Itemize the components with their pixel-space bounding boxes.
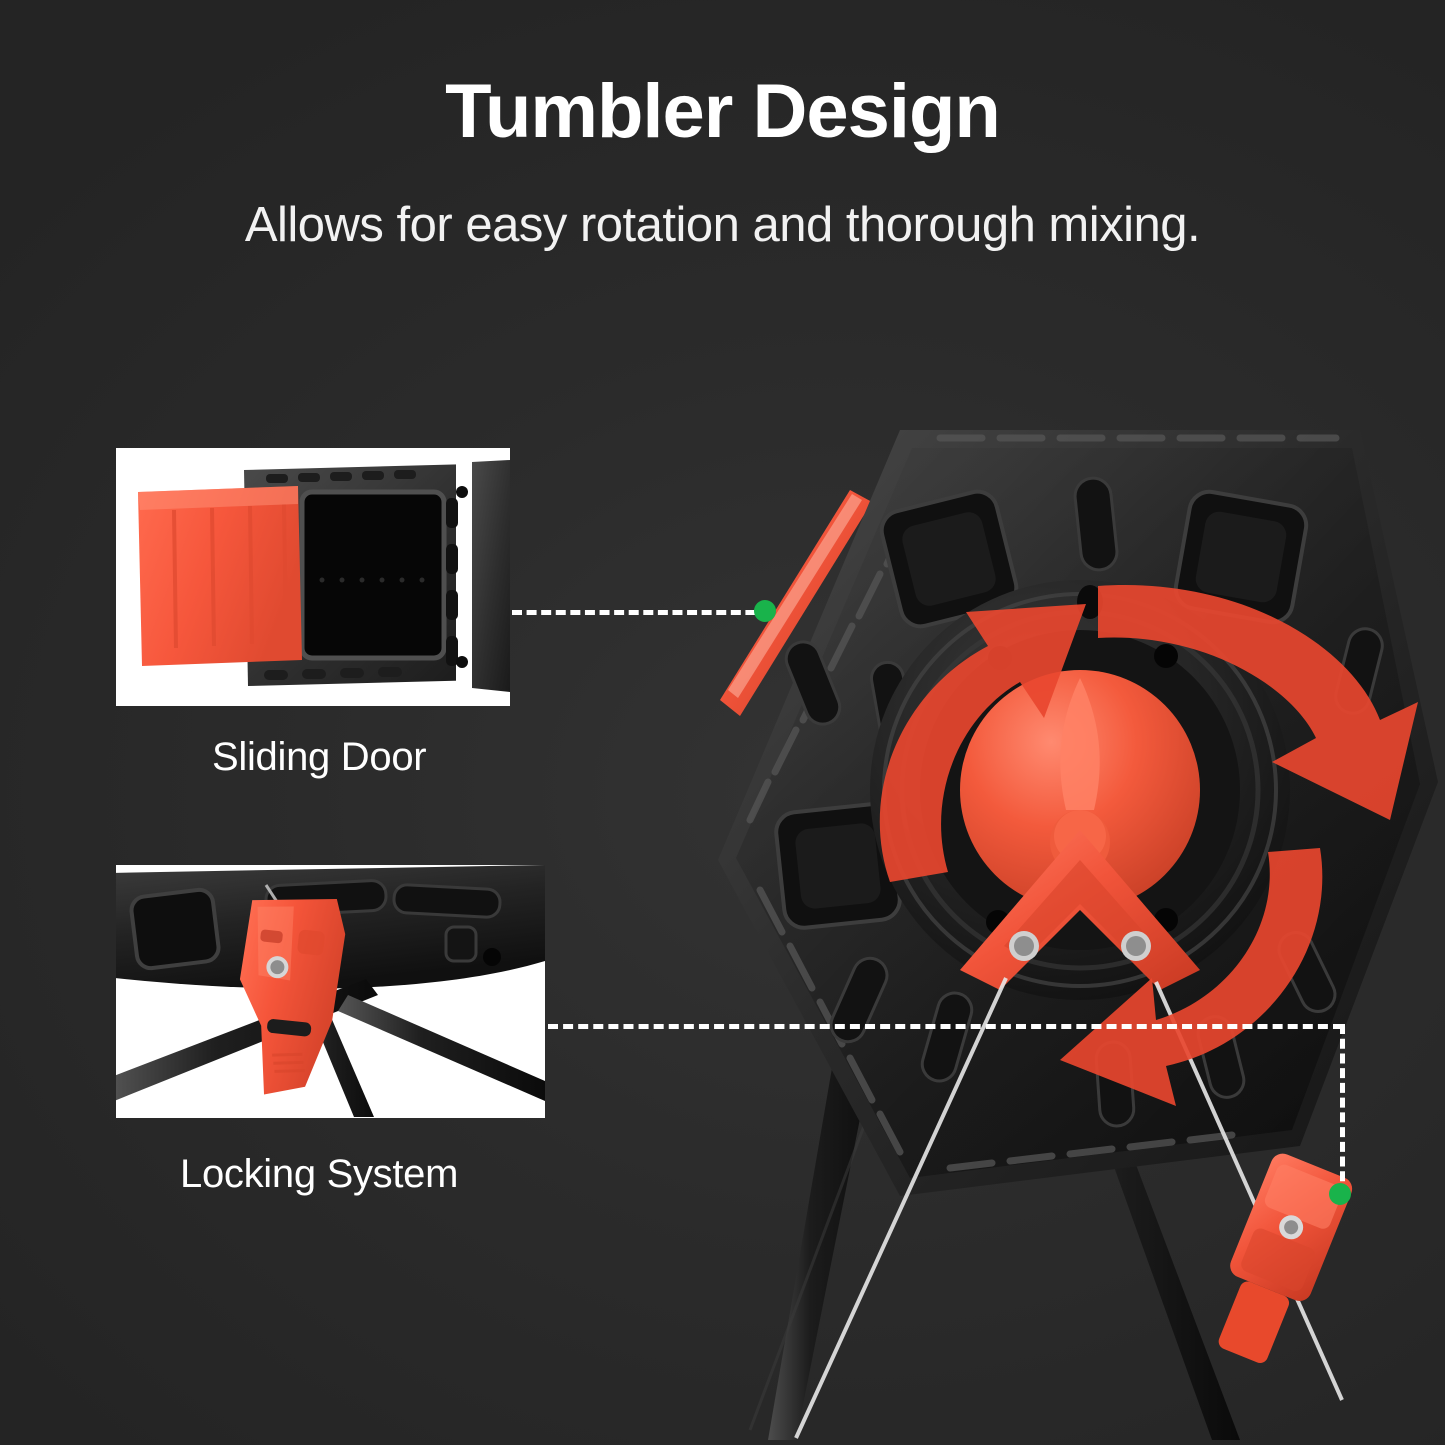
corner-bolt (456, 656, 468, 668)
callout-marker-locking-system (1329, 1183, 1351, 1205)
callout-marker-sliding-door (754, 600, 776, 622)
callout-line-sliding-door (512, 610, 770, 615)
feature-caption-locking-system: Locking System (180, 1152, 458, 1197)
feature-photo-locking-system (116, 865, 545, 1118)
page-subtitle: Allows for easy rotation and thorough mi… (0, 197, 1445, 253)
callout-line-locking-system-vertical (1340, 1024, 1345, 1196)
callout-line-locking-system-horizontal (548, 1024, 1343, 1029)
page-title: Tumbler Design (0, 72, 1445, 152)
door-opening (302, 492, 444, 658)
feature-caption-sliding-door: Sliding Door (212, 735, 426, 780)
sliding-door-panel (138, 486, 302, 666)
product-hero-image (600, 390, 1445, 1445)
second-chamber-edge (472, 460, 510, 692)
locking-latch (1200, 1150, 1356, 1371)
underside-bolt (483, 948, 501, 966)
feature-photo-sliding-door (116, 448, 510, 706)
infographic-canvas: Tumbler Design Allows for easy rotation … (0, 0, 1445, 1445)
latch-grip-lines (271, 1051, 307, 1074)
